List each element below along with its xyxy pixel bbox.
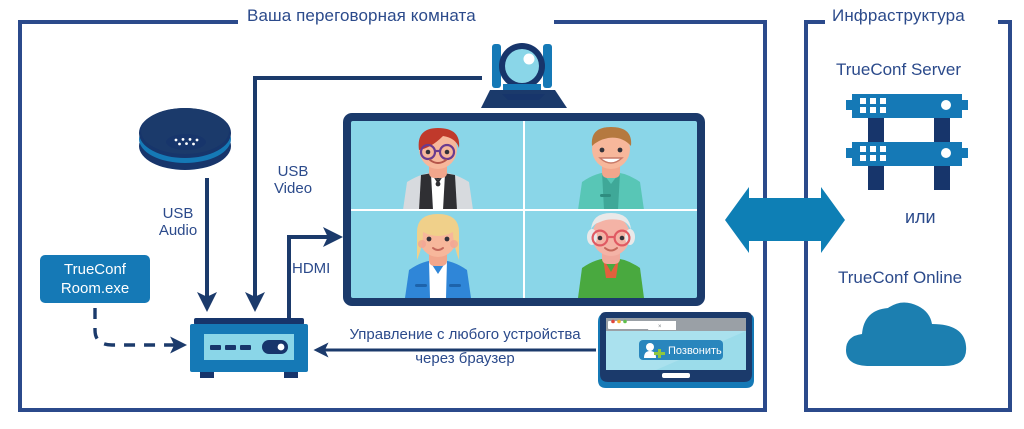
label-hdmi: HDMI xyxy=(292,260,330,277)
tv-display-icon xyxy=(343,113,705,306)
label-usb-audio: USB Audio xyxy=(150,205,206,239)
tablet-icon[interactable]: × Позвонить xyxy=(596,310,756,392)
caption-trueconf-server: TrueConf Server xyxy=(836,60,961,80)
diagram-canvas: Ваша переговорная комната Инфраструктура xyxy=(0,0,1024,429)
bidirectional-link-arrow xyxy=(723,186,847,254)
svg-text:Позвонить: Позвонить xyxy=(668,345,722,357)
room-exe-line2: Room.exe xyxy=(61,279,129,298)
server-rack-icon xyxy=(846,88,968,190)
participant-top-right xyxy=(524,121,697,210)
speakerphone-icon xyxy=(136,98,234,174)
caption-or: или xyxy=(905,207,936,228)
participant-top-left xyxy=(351,121,524,210)
tv-video-grid xyxy=(351,121,697,298)
trueconf-room-exe-box[interactable]: TrueConf Room.exe xyxy=(40,255,150,303)
panel-title-infrastructure: Инфраструктура xyxy=(832,7,965,24)
label-browser-control: Управление с любого устройства через бра… xyxy=(332,326,598,367)
room-codec-icon xyxy=(190,318,308,380)
cloud-icon xyxy=(840,294,974,370)
label-usb-video: USB Video xyxy=(265,163,321,197)
participant-bottom-right xyxy=(524,210,697,299)
participant-bottom-left xyxy=(351,210,524,299)
ptz-camera-icon xyxy=(477,38,575,110)
panel-title-room: Ваша переговорная комната xyxy=(247,7,476,24)
room-exe-line1: TrueConf xyxy=(64,260,126,279)
svg-text:×: × xyxy=(658,324,662,330)
caption-trueconf-online: TrueConf Online xyxy=(838,268,962,288)
